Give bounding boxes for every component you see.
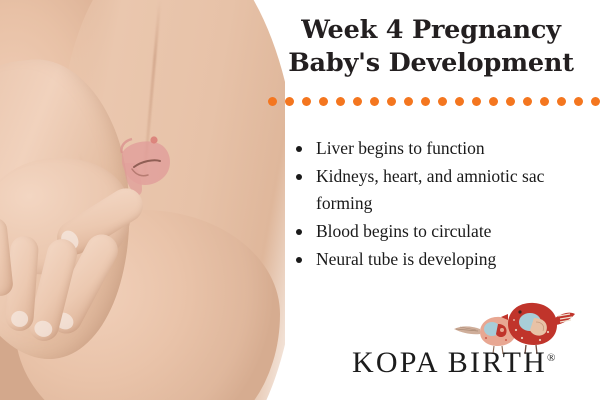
bullet-item: Liver begins to function: [292, 135, 597, 162]
logo-wordmark: KOPA BIRTH®: [352, 346, 582, 380]
hand-on-hip: [0, 158, 195, 358]
divider-dot: [370, 97, 379, 106]
photo-pregnant-abdomen: [0, 0, 285, 400]
divider-dot: [421, 97, 430, 106]
divider-dot: [523, 97, 532, 106]
registered-trademark-icon: ®: [547, 352, 555, 364]
divider-dot: [353, 97, 362, 106]
divider-dot: [591, 97, 600, 106]
divider-dot: [574, 97, 583, 106]
divider-dot: [302, 97, 311, 106]
development-bullet-list: Liver begins to functionKidneys, heart, …: [292, 135, 597, 274]
divider-dot: [472, 97, 481, 106]
fingernail: [33, 319, 54, 339]
divider-dot: [506, 97, 515, 106]
divider-dot: [540, 97, 549, 106]
logo-brand-text: KOPA BIRTH: [352, 346, 547, 379]
page-title: Week 4 Pregnancy Baby's Development: [262, 0, 600, 80]
bullet-item: Blood begins to circulate: [292, 218, 597, 245]
bullet-item: Kidneys, heart, and amniotic sac forming: [292, 163, 597, 217]
divider-dot: [404, 97, 413, 106]
divider-dot: [557, 97, 566, 106]
divider-dot: [268, 97, 277, 106]
bullet-item: Neural tube is developing: [292, 246, 597, 273]
fingernail: [11, 310, 29, 327]
divider-dot: [438, 97, 447, 106]
divider-dot: [455, 97, 464, 106]
divider-dot: [319, 97, 328, 106]
title-line-2: Baby's Development: [262, 47, 600, 80]
divider-dot: [489, 97, 498, 106]
divider-dot: [285, 97, 294, 106]
divider-dot: [336, 97, 345, 106]
title-line-1: Week 4 Pregnancy: [301, 15, 561, 45]
divider-dot: [387, 97, 396, 106]
infographic-canvas: Week 4 Pregnancy Baby's Development Live…: [0, 0, 600, 400]
dotted-divider: [268, 92, 600, 106]
brand-logo[interactable]: KOPA BIRTH®: [352, 296, 582, 392]
